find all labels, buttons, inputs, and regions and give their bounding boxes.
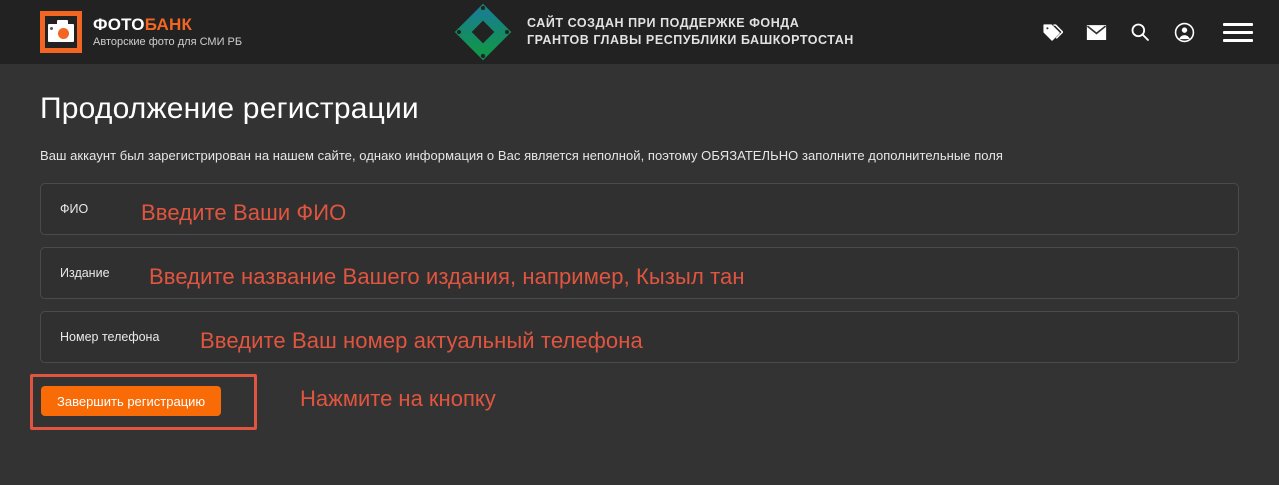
- brand-text: ФОТОБАНК Авторские фото для СМИ РБ: [93, 16, 242, 48]
- sponsor-line-1: САЙТ СОЗДАН ПРИ ПОДДЕРЖКЕ ФОНДА: [527, 15, 854, 32]
- registration-form: ФИО Введите Ваши ФИО Издание Введите наз…: [40, 183, 1239, 433]
- hamburger-menu-icon[interactable]: [1223, 21, 1253, 43]
- tags-icon[interactable]: [1041, 21, 1063, 43]
- camera-icon: [40, 11, 82, 53]
- brand-title: ФОТОБАНК: [93, 16, 242, 33]
- field-phone[interactable]: Номер телефона Введите Ваш номер актуаль…: [40, 311, 1239, 363]
- submit-row: Завершить регистрацию Нажмите на кнопку: [40, 377, 1239, 433]
- brand-title-part1: ФОТО: [93, 15, 145, 34]
- envelope-icon[interactable]: [1085, 21, 1107, 43]
- sponsor-banner: САЙТ СОЗДАН ПРИ ПОДДЕРЖКЕ ФОНДА ГРАНТОВ …: [455, 4, 854, 60]
- sponsor-text: САЙТ СОЗДАН ПРИ ПОДДЕРЖКЕ ФОНДА ГРАНТОВ …: [527, 15, 854, 49]
- sponsor-line-2: ГРАНТОВ ГЛАВЫ РЕСПУБЛИКИ БАШКОРТОСТАН: [527, 32, 854, 49]
- fio-input[interactable]: [88, 184, 1238, 234]
- page-title: Продолжение регистрации: [40, 92, 1239, 126]
- annotation-button: Нажмите на кнопку: [300, 386, 496, 412]
- diamond-ornament-icon: [455, 4, 511, 60]
- page-description: Ваш аккаунт был зарегистрирован на нашем…: [40, 148, 1239, 163]
- field-fio[interactable]: ФИО Введите Ваши ФИО: [40, 183, 1239, 235]
- site-header: ФОТОБАНК Авторские фото для СМИ РБ САЙТ …: [0, 0, 1279, 64]
- field-edition[interactable]: Издание Введите название Вашего издания,…: [40, 247, 1239, 299]
- phone-input[interactable]: [159, 312, 1238, 362]
- field-label-edition: Издание: [60, 266, 110, 280]
- finish-registration-button[interactable]: Завершить регистрацию: [41, 386, 221, 416]
- edition-input[interactable]: [110, 248, 1238, 298]
- field-label-phone: Номер телефона: [60, 330, 159, 344]
- brand-subtitle: Авторские фото для СМИ РБ: [93, 37, 242, 48]
- search-icon[interactable]: [1129, 21, 1151, 43]
- registration-page: Продолжение регистрации Ваш аккаунт был …: [0, 92, 1279, 433]
- field-label-fio: ФИО: [60, 202, 88, 216]
- brand-logo-link[interactable]: ФОТОБАНК Авторские фото для СМИ РБ: [40, 11, 242, 53]
- user-circle-icon[interactable]: [1173, 21, 1195, 43]
- header-icon-bar: [1041, 21, 1253, 43]
- brand-title-part2: БАНК: [145, 15, 192, 34]
